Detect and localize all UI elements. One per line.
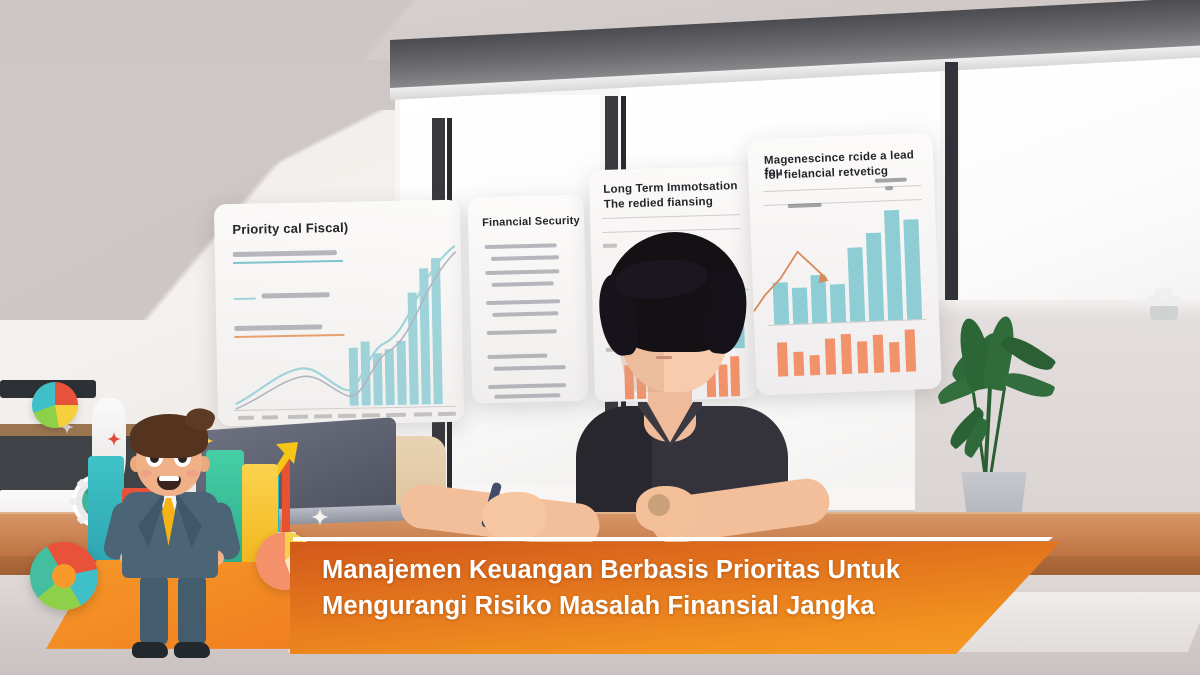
- panel-long-term-title-2: The redied fiansing: [604, 196, 714, 211]
- pie-donut-hole: [52, 564, 76, 588]
- wrist-watch: [648, 494, 670, 516]
- slide-canvas: Priority cal Fiscal) Financial Secur: [0, 0, 1200, 675]
- banner-title-line-1: Manajemen Keuangan Berbasis Prioritas Un…: [322, 552, 942, 588]
- panel-financial-security-title: Financial Security: [482, 215, 580, 229]
- panel-long-term-title-1: Long Term Immotsation: [603, 180, 738, 196]
- succulent-pot: [1150, 306, 1178, 320]
- banner-top-rule: [293, 537, 1053, 541]
- sparkle-white-icon: [311, 508, 329, 531]
- 3d-illustration: [10, 392, 310, 675]
- banner-title-line-2: Mengurangi Risiko Masalah Finansial Jang…: [322, 588, 942, 624]
- person-writing-hand: [482, 492, 546, 540]
- pie-chart-multicolor: [32, 382, 78, 428]
- window-mullion-3: [945, 62, 958, 312]
- banner-title: Manajemen Keuangan Berbasis Prioritas Un…: [322, 552, 942, 624]
